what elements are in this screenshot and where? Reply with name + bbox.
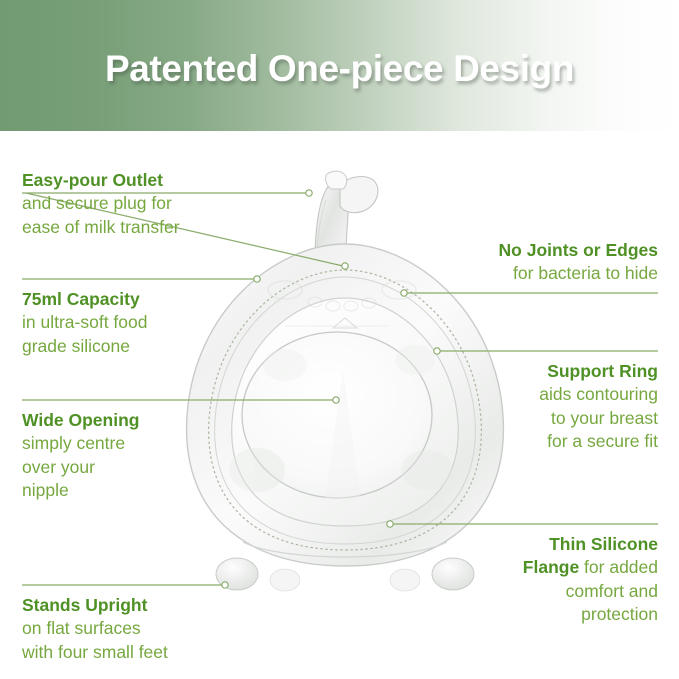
callout-support-ring: Support Ring aids contouring to your bre… [358, 360, 658, 453]
callout-thin-flange-title-part2: Flange [523, 557, 579, 577]
page-title: Patented One-piece Design [0, 0, 679, 131]
callout-stands-upright-line2: with four small feet [22, 641, 262, 664]
callout-wide-opening-line1: simply centre [22, 432, 222, 455]
callout-easy-pour-outlet: Easy-pour Outlet and secure plug for eas… [22, 169, 252, 239]
callout-wide-opening-line2: over your [22, 456, 222, 479]
callout-wide-opening-line3: nipple [22, 479, 222, 502]
callout-thin-flange-after-title: for added [579, 557, 658, 577]
callout-support-ring-line3: for a secure fit [358, 430, 658, 453]
callout-support-ring-title: Support Ring [358, 360, 658, 383]
callout-no-joints-title: No Joints or Edges [358, 239, 658, 262]
callout-support-ring-line2: to your breast [358, 407, 658, 430]
callout-thin-flange: Thin Silicone Flange for added comfort a… [358, 533, 658, 626]
callout-no-joints-line1: for bacteria to hide [358, 262, 658, 285]
callout-thin-flange-title-line2: Flange for added [358, 556, 658, 579]
callout-wide-opening: Wide Opening simply centre over your nip… [22, 409, 222, 502]
callout-capacity: 75ml Capacity in ultra-soft food grade s… [22, 288, 242, 358]
callout-easy-pour-line2: ease of milk transfer [22, 216, 252, 239]
callout-easy-pour-title: Easy-pour Outlet [22, 169, 252, 192]
callout-thin-flange-line3: protection [358, 603, 658, 626]
callout-support-ring-line1: aids contouring [358, 383, 658, 406]
callout-thin-flange-line2: comfort and [358, 580, 658, 603]
callout-wide-opening-title: Wide Opening [22, 409, 222, 432]
callout-stands-upright-title: Stands Upright [22, 594, 262, 617]
callout-capacity-line2: grade silicone [22, 335, 242, 358]
callout-capacity-title: 75ml Capacity [22, 288, 242, 311]
callout-stands-upright-line1: on flat surfaces [22, 617, 262, 640]
callout-thin-flange-title-line1: Thin Silicone [358, 533, 658, 556]
callout-no-joints: No Joints or Edges for bacteria to hide [358, 239, 658, 286]
callout-easy-pour-line1: and secure plug for [22, 192, 252, 215]
infographic-canvas: Patented One-piece Design [0, 0, 679, 679]
callout-capacity-line1: in ultra-soft food [22, 311, 242, 334]
callout-stands-upright: Stands Upright on flat surfaces with fou… [22, 594, 262, 664]
